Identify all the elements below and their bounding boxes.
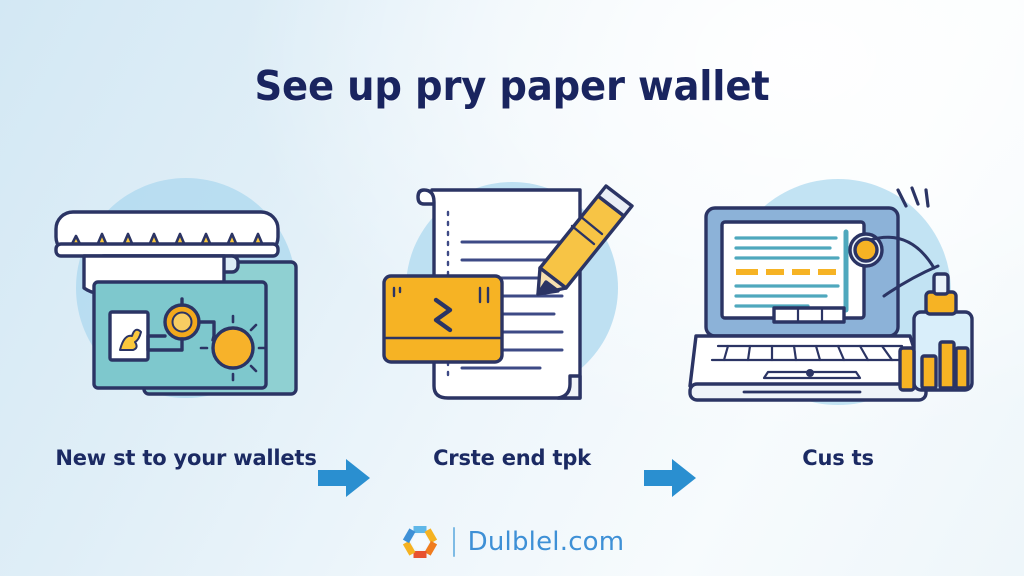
document-pencil-and-card-icon <box>362 170 662 420</box>
step-1-caption: New st to your wallets <box>36 446 336 470</box>
printer-and-wallet-card-icon <box>36 170 336 420</box>
step-2-caption: Crste end tpk <box>362 446 662 470</box>
step-1: New st to your wallets <box>36 170 336 490</box>
laptop-and-bottle-icon <box>688 170 988 420</box>
step-3: Cus ts <box>688 170 988 490</box>
step-3-caption: Cus ts <box>688 446 988 470</box>
footer-brand: Dulblel.com <box>0 516 1024 568</box>
step-3-illustration <box>688 170 988 420</box>
step-2: Crste end tpk <box>362 170 662 490</box>
steps-row: New st to your wallets <box>0 170 1024 490</box>
footer-divider <box>453 527 455 557</box>
step-1-illustration <box>36 170 336 420</box>
footer-brand-text: Dulblel.com <box>468 527 625 557</box>
hexagon-ring-logo-icon <box>400 522 440 562</box>
poster-canvas: See up pry paper wallet <box>0 0 1024 576</box>
step-2-illustration <box>362 170 662 420</box>
page-title: See up pry paper wallet <box>31 62 994 110</box>
